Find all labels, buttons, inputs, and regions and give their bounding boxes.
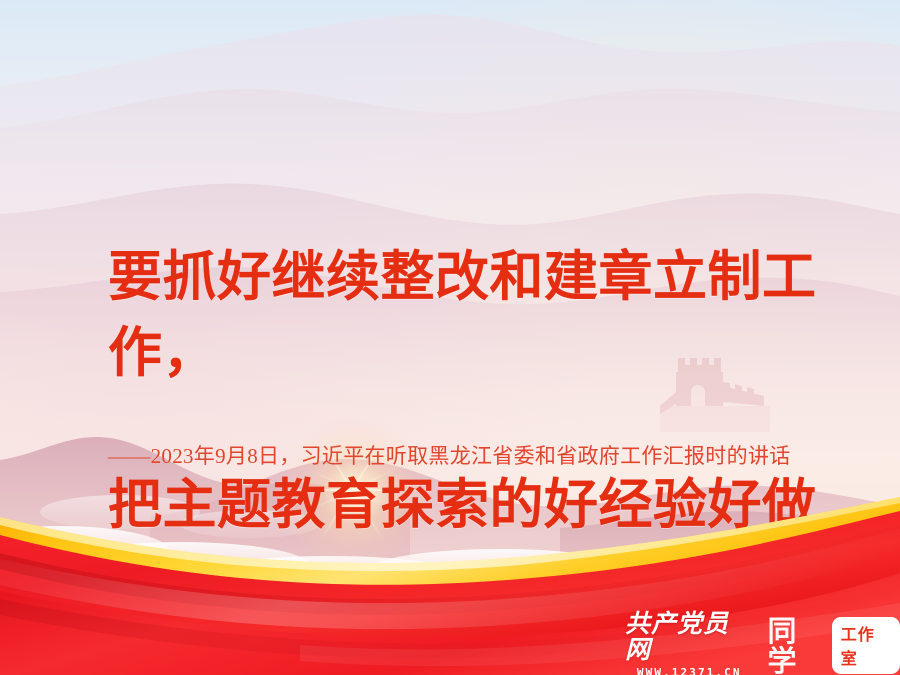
poster-canvas: 要抓好继续整改和建章立制工作， 把主题教育探索的好经验好做法 转化为长效机制。 … [0, 0, 900, 675]
logo-tongxue-studio[interactable]: 同学 工作室 [768, 616, 900, 675]
logo-group[interactable]: 共产党员网 WWW.12371.CN 同学 工作室 [625, 612, 900, 675]
logo-gongchandangyuan[interactable]: 共产党员网 WWW.12371.CN [625, 612, 754, 675]
headline-line-1: 要抓好继续整改和建章立制工作， [108, 239, 868, 391]
logo-primary-name: 共产党员网 [625, 612, 754, 664]
logo-primary-name-row: 共产党员网 [625, 612, 754, 664]
logo-primary-url[interactable]: WWW.12371.CN [637, 666, 742, 675]
logo-secondary-badge: 工作室 [832, 617, 900, 674]
attribution-text: ——2023年9月8日，习近平在听取黑龙江省委和省政府工作汇报时的讲话 [108, 440, 791, 470]
logo-secondary-name: 同学 [768, 616, 827, 675]
